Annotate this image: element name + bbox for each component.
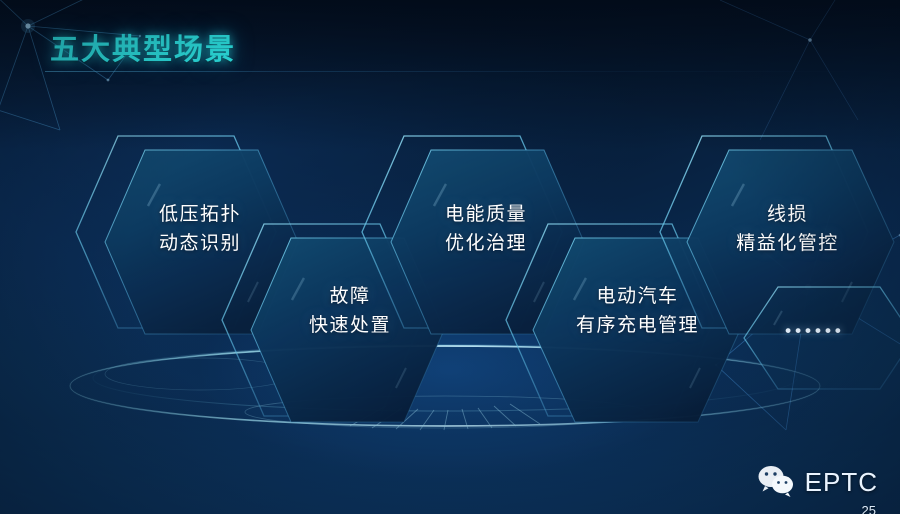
slide-canvas: 五大典型场景 (0, 0, 900, 514)
page-number: 25 (862, 503, 876, 514)
scenario-label-more: •••••• (730, 321, 900, 341)
scenario-hex-cluster: 低压拓扑 动态识别 故障 快速处置 (0, 0, 900, 514)
footer-watermark: EPTC (756, 464, 878, 498)
scenario-hex-more[interactable]: •••••• (748, 283, 900, 393)
brand-name: EPTC (805, 467, 878, 498)
wechat-icon (756, 464, 796, 498)
